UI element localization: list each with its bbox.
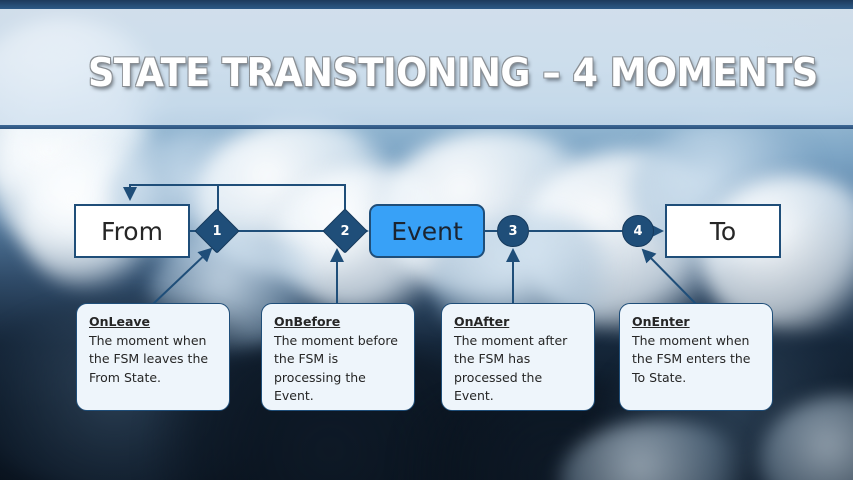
- node-from[interactable]: From: [74, 204, 190, 258]
- marker-1[interactable]: 1: [201, 215, 233, 247]
- callout-onenter-title: OnEnter: [632, 313, 762, 332]
- node-to-label: To: [710, 217, 736, 246]
- callout-onenter-text: The moment when the FSM enters the To St…: [632, 332, 762, 388]
- callout-onleave[interactable]: OnLeave The moment when the FSM leaves t…: [76, 303, 230, 411]
- callout-onbefore[interactable]: OnBefore The moment before the FSM is pr…: [261, 303, 415, 411]
- callout-onafter-title: OnAfter: [454, 313, 584, 332]
- node-event[interactable]: Event: [369, 204, 485, 258]
- marker-4[interactable]: 4: [622, 215, 654, 247]
- node-event-label: Event: [391, 217, 463, 246]
- marker-3-number: 3: [508, 224, 517, 239]
- marker-4-number: 4: [633, 224, 642, 239]
- marker-2[interactable]: 2: [329, 215, 361, 247]
- marker-1-number: 1: [212, 224, 221, 239]
- callout-onbefore-title: OnBefore: [274, 313, 404, 332]
- callout-onenter[interactable]: OnEnter The moment when the FSM enters t…: [619, 303, 773, 411]
- callout-onleave-title: OnLeave: [89, 313, 219, 332]
- callout-onafter[interactable]: OnAfter The moment after the FSM has pro…: [441, 303, 595, 411]
- node-from-label: From: [101, 217, 163, 246]
- marker-2-number: 2: [340, 224, 349, 239]
- node-to[interactable]: To: [665, 204, 781, 258]
- slide-canvas: STATE TRANSTIONING – 4 MOMENTS: [0, 0, 853, 480]
- callout-onleave-text: The moment when the FSM leaves the From …: [89, 332, 219, 388]
- callout-onafter-text: The moment after the FSM has processed t…: [454, 332, 584, 406]
- callout-onbefore-text: The moment before the FSM is processing …: [274, 332, 404, 406]
- marker-3[interactable]: 3: [497, 215, 529, 247]
